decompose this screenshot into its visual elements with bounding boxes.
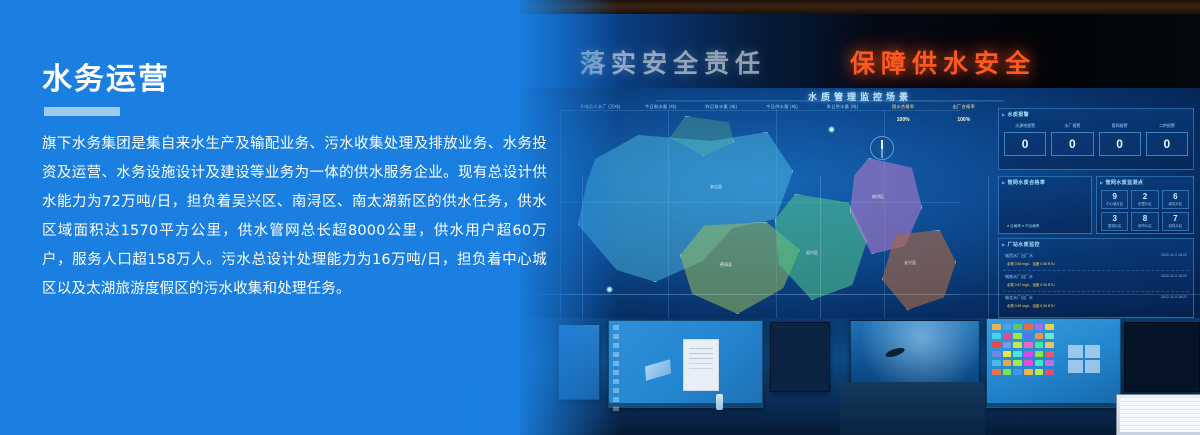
log-title-1: 城南水厂出厂水 [1005, 274, 1033, 280]
rate-panel-legend: ● 合格率 ● 不合格率 [1007, 224, 1040, 229]
point-label-3: 菱湖片区 [1102, 223, 1127, 228]
log-time-1: 2022-11-9 18:22 [1161, 274, 1187, 278]
windows-logo-icon [1068, 345, 1102, 375]
stat-strip: 千吨万人水厂 (万吨) 今日取水量 (吨) 昨日取水量 (吨) 今日供水量 (吨… [572, 104, 992, 123]
log-values-1: 余氯 0.57 mg/L 浊度 0.05 NTU [1007, 282, 1055, 287]
point-label-5: 双林片区 [1163, 223, 1188, 228]
point-value-0: 9 [1102, 192, 1127, 201]
point-cell-0[interactable]: 9 中心城片区 [1101, 190, 1128, 209]
map-glow-point-1 [828, 126, 835, 133]
point-value-4: 8 [1132, 214, 1157, 223]
operator-desk [520, 318, 1200, 435]
alarm-value-3: 0 [1146, 132, 1188, 156]
laptop-spreadsheet [1116, 394, 1200, 435]
point-cell-5[interactable]: 7 双林片区 [1162, 212, 1189, 231]
log-title-2: 城北水厂出厂水 [1005, 295, 1033, 301]
monitor-5-windows-desktop [986, 318, 1121, 408]
stat-value-6: 100% [935, 117, 992, 123]
monitor-3 [770, 322, 830, 392]
stat-item-4: 昨日供水量 (吨) [814, 104, 871, 123]
page-title: 水务运营 [42, 54, 620, 98]
log-row-2[interactable]: 城北水厂出厂水 2022-11-9 18:22 余氯 0.52 mg/L 浊度 … [1003, 293, 1189, 313]
log-values-0: 余氯 0.54 mg/L 浊度 0.08 NTU [1007, 261, 1055, 266]
stat-item-3: 今日供水量 (吨) [754, 104, 811, 123]
log-v2-1: 浊度 0.05 NTU [1033, 283, 1055, 287]
stat-label-6: 出厂合格率 [935, 104, 992, 110]
stat-value-5: 100% [875, 117, 932, 123]
alarm-label-1: 水厂报警 [1051, 123, 1093, 129]
monitor-5-taskbar [987, 403, 1120, 407]
monitor-6 [1124, 322, 1200, 392]
dashboard-screen: 水质管理监控场景 安吉县 德清县 吴兴区 南浔区 长兴县 [520, 88, 1200, 323]
log-time-2: 2022-11-9 18:22 [1161, 295, 1187, 299]
monitor-5-desktop-icons [992, 324, 1054, 375]
alarm-value-2: 0 [1099, 132, 1141, 156]
log-panel-header: 厂站水质监控 [1002, 241, 1040, 248]
log-time-0: 2022-11-9 18:22 [1161, 253, 1187, 257]
log-values-2: 余氯 0.52 mg/L 浊度 0.06 NTU [1007, 303, 1055, 308]
body-paragraph: 旗下水务集团是集自来水生产及输配业务、污水收集处理及排放业务、水务投资及运营、水… [42, 130, 547, 304]
point-cell-3[interactable]: 3 菱湖片区 [1101, 212, 1128, 231]
stat-item-6: 出厂合格率 100% [935, 104, 992, 123]
log-v1-0: 余氯 0.54 mg/L [1007, 262, 1030, 266]
alarm-value-1: 0 [1051, 132, 1093, 156]
pipeline-quality-rate-panel[interactable]: 管网水质合格率 ● 合格率 ● 不合格率 [998, 176, 1092, 234]
monitoring-points-panel[interactable]: 管网水质监测点 9 中心城片区 2 织里片区 6 南浔片区 [1096, 176, 1194, 234]
rate-panel-header: 管网水质合格率 [1002, 179, 1045, 186]
log-row-1[interactable]: 城南水厂出厂水 2022-11-9 18:22 余氯 0.57 mg/L 浊度 … [1003, 272, 1189, 292]
chair-back [840, 382, 985, 435]
point-label-4: 练市片区 [1132, 223, 1157, 228]
station-quality-log-panel[interactable]: 厂站水质监控 城西水厂出厂水 2022-11-9 18:22 余氯 0.54 m… [998, 238, 1194, 318]
region-map[interactable]: 安吉县 德清县 吴兴区 南浔区 长兴县 [560, 110, 960, 320]
stat-item-5: 国水合格率 100% [875, 104, 932, 123]
stat-item-1: 今日取水量 (吨) [633, 104, 690, 123]
point-label-1: 织里片区 [1132, 201, 1157, 206]
title-underline [44, 107, 120, 116]
point-value-1: 2 [1132, 192, 1157, 201]
stat-label-1: 今日取水量 (吨) [633, 104, 690, 110]
alarm-cell-2[interactable]: 管网报警 0 [1099, 123, 1141, 156]
log-v2-2: 浊度 0.06 NTU [1033, 304, 1055, 308]
point-value-2: 6 [1163, 192, 1188, 201]
points-panel-header: 管网水质监测点 [1100, 179, 1143, 186]
alarm-cell-1[interactable]: 水厂报警 0 [1051, 123, 1093, 156]
water-operations-banner: 落实安全责任 保障供水安全 水质管理监控场景 安吉县 德清县 吴兴区 南浔区 长… [0, 0, 1200, 435]
slogan-right-text: 保障供水安全 [850, 44, 1036, 80]
compass-icon [870, 136, 894, 160]
monitor-2-taskbar [609, 403, 762, 407]
stat-item-2: 昨日取水量 (吨) [693, 104, 750, 123]
alarm-panel-header: 水质报警 [1002, 111, 1029, 118]
map-label-3: 南浔区 [872, 194, 884, 200]
stat-label-2: 昨日取水量 (吨) [693, 104, 750, 110]
point-cell-2[interactable]: 6 南浔片区 [1162, 190, 1189, 209]
water-bottle [716, 394, 723, 410]
log-v2-0: 浊度 0.08 NTU [1033, 262, 1055, 266]
alarm-label-3: 二供报警 [1146, 123, 1188, 129]
log-title-0: 城西水厂出厂水 [1005, 253, 1033, 259]
water-quality-alarm-panel[interactable]: 水质报警 水源地报警 0 水厂报警 0 管网报警 0 二供报 [998, 108, 1194, 170]
point-value-5: 7 [1163, 214, 1188, 223]
control-room-photo: 落实安全责任 保障供水安全 水质管理监控场景 安吉县 德清县 吴兴区 南浔区 长… [520, 0, 1200, 435]
alarm-cell-0[interactable]: 水源地报警 0 [1004, 123, 1046, 156]
spreadsheet-rows [1120, 398, 1200, 432]
monitor-2-graphic [645, 359, 671, 380]
map-label-1: 德清县 [720, 262, 732, 268]
point-cell-4[interactable]: 8 练市片区 [1131, 212, 1158, 231]
text-panel: 水务运营 旗下水务集团是集自来水生产及输配业务、污水收集处理及排放业务、水务投资… [0, 0, 620, 435]
point-label-2: 南浔片区 [1163, 201, 1188, 206]
points-grid: 9 中心城片区 2 织里片区 6 南浔片区 3 菱湖片区 [1101, 190, 1189, 231]
map-label-4: 长兴县 [904, 260, 916, 266]
alarm-cells: 水源地报警 0 水厂报警 0 管网报警 0 二供报警 0 [1004, 123, 1188, 156]
point-label-0: 中心城片区 [1102, 201, 1127, 206]
map-label-0: 安吉县 [710, 184, 722, 190]
log-v1-2: 余氯 0.52 mg/L [1007, 304, 1030, 308]
monitor-2-document-window [683, 339, 719, 391]
log-row-0[interactable]: 城西水厂出厂水 2022-11-9 18:22 余氯 0.54 mg/L 浊度 … [1003, 251, 1189, 271]
stat-label-5: 国水合格率 [875, 104, 932, 110]
log-v1-1: 余氯 0.57 mg/L [1007, 283, 1030, 287]
video-wall-header: 落实安全责任 保障供水安全 [520, 14, 1200, 92]
point-value-3: 3 [1102, 214, 1127, 223]
alarm-label-2: 管网报警 [1099, 123, 1141, 129]
alarm-value-0: 0 [1004, 132, 1046, 156]
monitor-2-document [608, 320, 763, 408]
point-cell-1[interactable]: 2 织里片区 [1131, 190, 1158, 209]
stat-label-4: 昨日供水量 (吨) [814, 104, 871, 110]
alarm-cell-3[interactable]: 二供报警 0 [1146, 123, 1188, 156]
map-label-2: 吴兴区 [806, 250, 818, 256]
stat-label-3: 今日供水量 (吨) [754, 104, 811, 110]
alarm-label-0: 水源地报警 [1004, 123, 1046, 129]
